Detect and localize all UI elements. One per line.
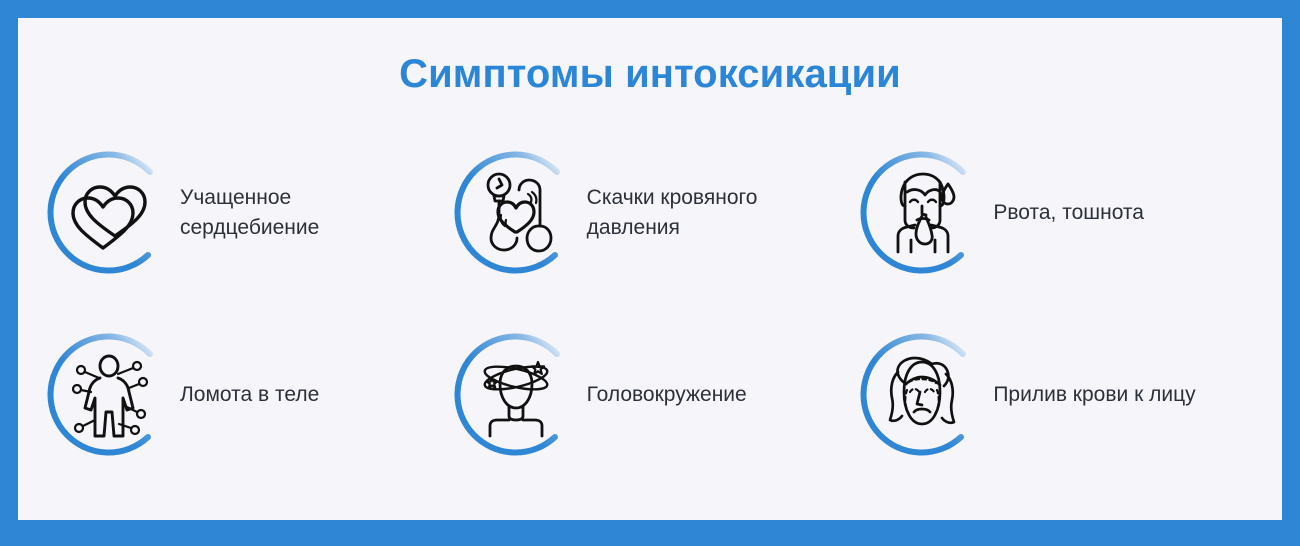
nausea-person-icon <box>883 170 963 256</box>
symptom-item-facial-flushing: Прилив крови к лицу <box>857 304 1264 486</box>
icon-badge <box>857 138 985 288</box>
symptom-item-palpitations: Учащенное сердцебиение <box>44 122 451 304</box>
body-pain-points-icon <box>69 354 149 440</box>
symptom-label: Рвота, тошнота <box>993 198 1144 228</box>
symptom-item-blood-pressure: Скачки кровяного давления <box>451 122 858 304</box>
icon-badge <box>857 320 985 470</box>
page-title: Симптомы интоксикации <box>18 52 1282 97</box>
symptom-label: Ломота в теле <box>180 380 319 410</box>
symptom-grid: Учащенное сердцебиение <box>44 122 1264 486</box>
symptom-label: Скачки кровяного давления <box>587 183 837 243</box>
dizzy-head-icon <box>476 354 556 440</box>
symptom-item-body-ache: Ломота в теле <box>44 304 451 486</box>
infographic-frame: Симптомы интоксикации <box>0 0 1300 546</box>
flushed-face-icon <box>882 354 962 440</box>
icon-badge <box>451 320 579 470</box>
icon-badge <box>44 320 172 470</box>
icon-badge <box>44 138 172 288</box>
symptom-item-nausea: Рвота, тошнота <box>857 122 1264 304</box>
double-heart-icon <box>70 170 150 256</box>
symptom-label: Головокружение <box>587 380 747 410</box>
symptom-item-dizziness: Головокружение <box>451 304 858 486</box>
symptom-label: Учащенное сердцебиение <box>180 183 430 243</box>
blood-pressure-monitor-icon <box>477 170 557 256</box>
symptom-label: Прилив крови к лицу <box>993 380 1195 410</box>
icon-badge <box>451 138 579 288</box>
infographic-canvas: Симптомы интоксикации <box>18 18 1282 520</box>
